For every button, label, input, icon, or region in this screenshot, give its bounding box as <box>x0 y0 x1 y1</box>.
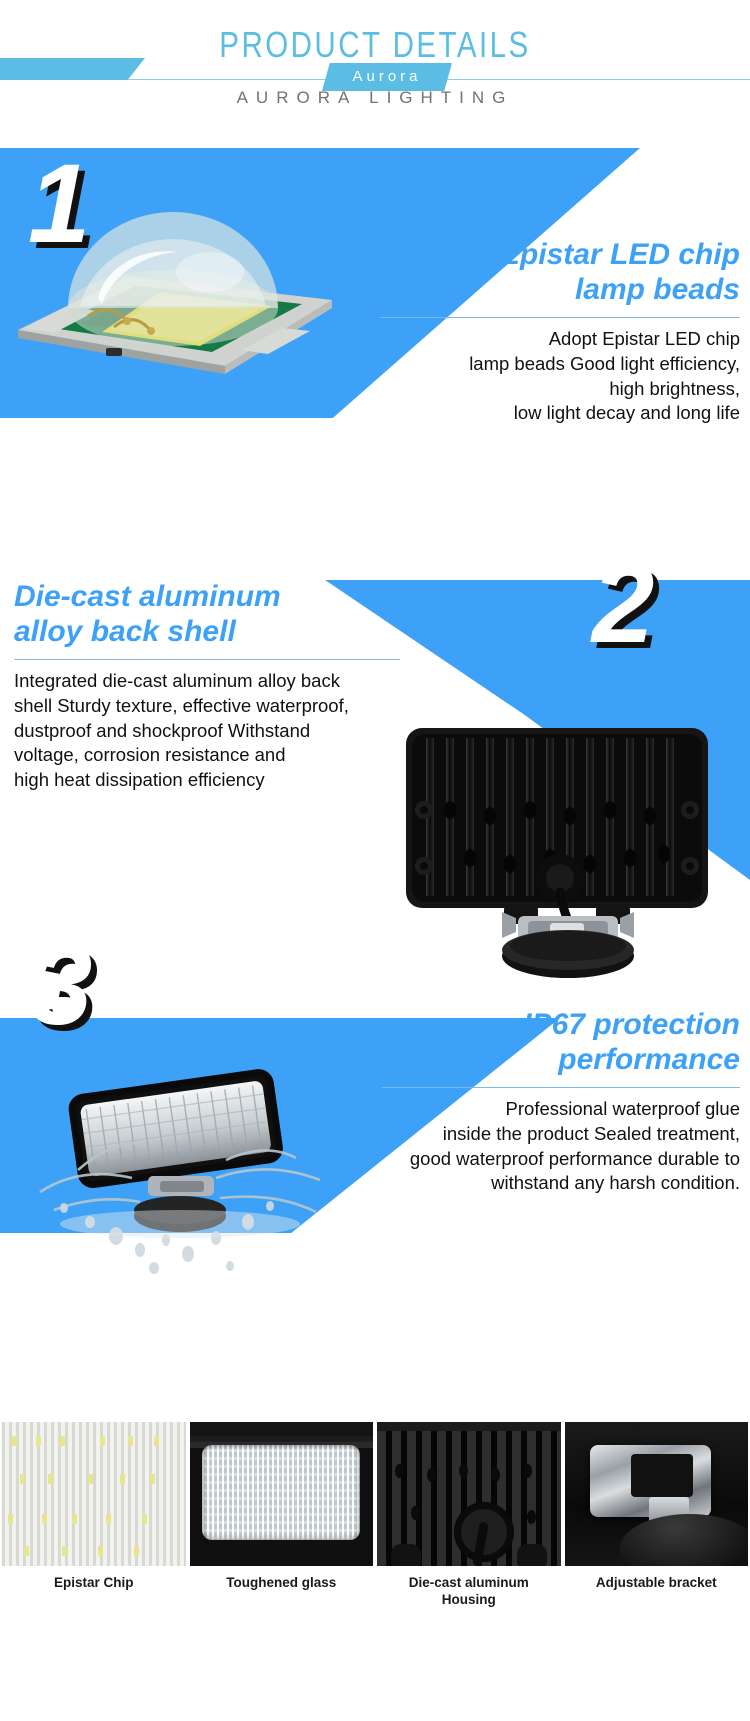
section-2-text: Die-cast aluminum alloy back shell Integ… <box>14 580 400 793</box>
brand-badge: Aurora <box>322 63 452 91</box>
section-1-title: Epistar LED chip lamp beads <box>380 238 740 307</box>
thumbnail-strip: Epistar Chip Toughened glass <box>0 1422 750 1602</box>
thumbnail-caption: Epistar Chip <box>2 1575 186 1592</box>
thumbnail-item[interactable]: Epistar Chip <box>2 1422 186 1602</box>
page-header: PRODUCT DETAILS Aurora AURORA LIGHTING <box>0 0 750 130</box>
thumbnail-item[interactable]: Toughened glass <box>190 1422 374 1602</box>
thumbnail-item[interactable]: Adjustable bracket <box>565 1422 749 1602</box>
section-3-divider <box>382 1087 740 1088</box>
section-3-text: IP67 protection performance Professional… <box>382 1008 740 1196</box>
thumbnail-caption: Die-cast aluminum Housing <box>377 1575 561 1609</box>
die-cast-housing-thumb <box>377 1422 561 1566</box>
section-3-body: Professional waterproof glue inside the … <box>382 1097 740 1196</box>
section-number-3: 3 <box>30 930 92 1042</box>
section-2-body: Integrated die-cast aluminum alloy back … <box>14 669 400 793</box>
section-1-body: Adopt Epistar LED chip lamp beads Good l… <box>380 327 740 426</box>
section-2-divider <box>14 659 400 660</box>
epistar-led-chip-photo <box>10 180 340 375</box>
section-2-title: Die-cast aluminum alloy back shell <box>14 580 400 649</box>
thumbnail-caption: Adjustable bracket <box>565 1575 749 1592</box>
thumbnail-caption: Toughened glass <box>190 1575 374 1592</box>
led-chip-array-thumb <box>2 1422 186 1566</box>
section-1-text: Epistar LED chip lamp beads Adopt Epista… <box>380 238 740 426</box>
waterproof-splash-photo <box>20 1040 350 1285</box>
section-3-title: IP67 protection performance <box>382 1008 740 1077</box>
section-1-divider <box>380 317 740 318</box>
toughened-glass-thumb <box>190 1422 374 1566</box>
thumbnail-item[interactable]: Die-cast aluminum Housing <box>377 1422 561 1602</box>
adjustable-bracket-thumb <box>565 1422 749 1566</box>
brand-subtitle: AURORA LIGHTING <box>0 88 750 108</box>
section-number-2: 2 <box>592 548 654 660</box>
page-title: PRODUCT DETAILS <box>68 24 683 66</box>
